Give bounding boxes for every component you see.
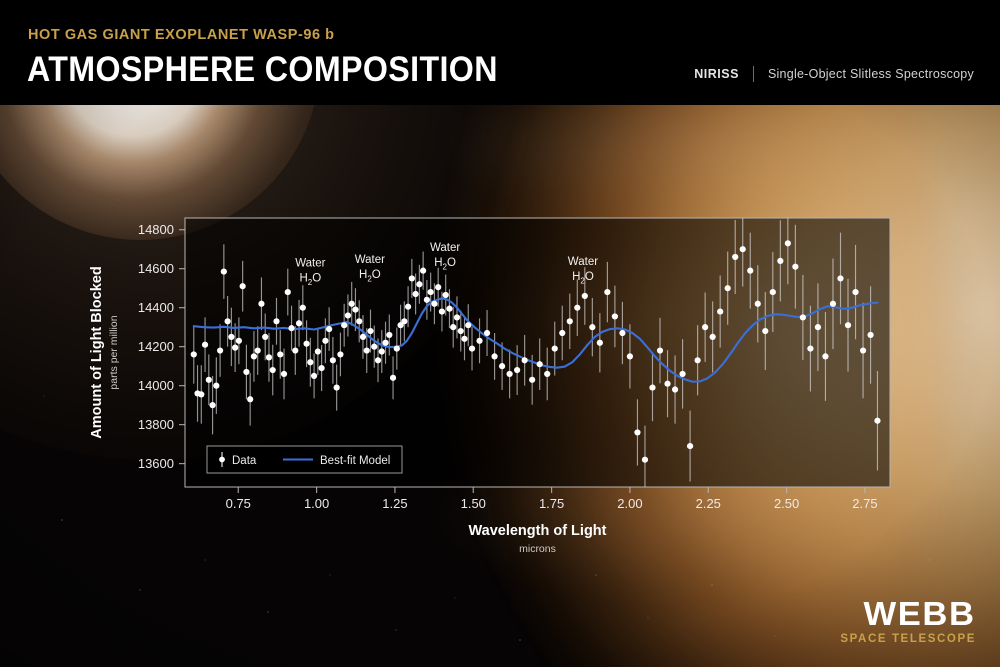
data-point bbox=[465, 322, 471, 328]
y-axis-tick-label: 14800 bbox=[138, 222, 174, 237]
data-point bbox=[461, 336, 467, 342]
data-point bbox=[270, 367, 276, 373]
data-point bbox=[710, 334, 716, 340]
data-point bbox=[345, 312, 351, 318]
data-point bbox=[679, 371, 685, 377]
data-point bbox=[217, 347, 223, 353]
data-point bbox=[191, 351, 197, 357]
data-point bbox=[687, 443, 693, 449]
x-axis-tick-label: 2.25 bbox=[696, 496, 721, 511]
data-point bbox=[657, 347, 663, 353]
data-point bbox=[672, 386, 678, 392]
data-point bbox=[777, 258, 783, 264]
data-point bbox=[642, 457, 648, 463]
data-point bbox=[725, 285, 731, 291]
x-axis-tick-label: 2.00 bbox=[617, 496, 642, 511]
data-point bbox=[634, 429, 640, 435]
data-point bbox=[334, 384, 340, 390]
x-axis-tick-label: 1.25 bbox=[382, 496, 407, 511]
logo-wordmark: WEBB bbox=[834, 597, 976, 630]
data-point bbox=[405, 304, 411, 310]
x-axis-tick-label: 2.50 bbox=[774, 496, 799, 511]
webb-logo: WEBB SPACE TELESCOPE bbox=[840, 597, 976, 645]
data-point bbox=[409, 275, 415, 281]
data-point bbox=[800, 314, 806, 320]
data-point bbox=[413, 291, 419, 297]
data-point bbox=[450, 324, 456, 330]
y-axis-tick-label: 14400 bbox=[138, 300, 174, 315]
data-point bbox=[431, 301, 437, 307]
data-point bbox=[255, 347, 261, 353]
data-point bbox=[867, 332, 873, 338]
header-eyebrow: HOT GAS GIANT EXOPLANET WASP-96 b bbox=[28, 27, 335, 43]
data-point bbox=[364, 347, 370, 353]
data-point bbox=[247, 396, 253, 402]
data-point bbox=[762, 328, 768, 334]
data-point bbox=[292, 347, 298, 353]
data-point bbox=[559, 330, 565, 336]
data-point bbox=[232, 345, 238, 351]
data-point bbox=[428, 289, 434, 295]
data-point bbox=[702, 324, 708, 330]
data-point bbox=[240, 283, 246, 289]
data-point bbox=[273, 318, 279, 324]
data-point bbox=[529, 377, 535, 383]
data-point bbox=[770, 289, 776, 295]
data-point bbox=[815, 324, 821, 330]
x-axis-tick-label: 1.50 bbox=[461, 496, 486, 511]
water-annotation-label: Water bbox=[568, 256, 598, 268]
data-point bbox=[458, 328, 464, 334]
data-point bbox=[198, 391, 204, 397]
data-point bbox=[330, 357, 336, 363]
data-point bbox=[213, 383, 219, 389]
data-point bbox=[326, 326, 332, 332]
data-point bbox=[352, 307, 358, 313]
data-point bbox=[612, 313, 618, 319]
data-point bbox=[341, 322, 347, 328]
data-point bbox=[420, 268, 426, 274]
y-axis-tick-label: 14200 bbox=[138, 339, 174, 354]
data-point bbox=[258, 301, 264, 307]
legend-label-data: Data bbox=[232, 455, 257, 467]
legend-label-model: Best-fit Model bbox=[320, 455, 390, 467]
data-point bbox=[285, 289, 291, 295]
data-point bbox=[717, 308, 723, 314]
data-point bbox=[416, 281, 422, 287]
data-point bbox=[567, 318, 573, 324]
data-point bbox=[860, 347, 866, 353]
x-axis-tick-label: 0.75 bbox=[226, 496, 251, 511]
data-point bbox=[537, 361, 543, 367]
data-point bbox=[852, 289, 858, 295]
data-point bbox=[375, 357, 381, 363]
data-point bbox=[469, 346, 475, 352]
data-point bbox=[807, 346, 813, 352]
water-annotation-label: Water bbox=[295, 258, 325, 270]
legend-data-marker bbox=[219, 457, 225, 463]
data-point bbox=[435, 284, 441, 290]
data-point bbox=[439, 308, 445, 314]
header-divider bbox=[753, 66, 754, 82]
data-point bbox=[303, 341, 309, 347]
y-axis-tick-label: 14000 bbox=[138, 378, 174, 393]
data-point bbox=[390, 375, 396, 381]
data-point bbox=[424, 297, 430, 303]
data-point bbox=[589, 324, 595, 330]
data-point bbox=[597, 340, 603, 346]
data-point bbox=[514, 367, 520, 373]
data-point bbox=[792, 264, 798, 270]
data-point bbox=[830, 301, 836, 307]
data-point bbox=[225, 318, 231, 324]
x-axis-tick-label: 1.75 bbox=[539, 496, 564, 511]
data-point bbox=[367, 328, 373, 334]
data-point bbox=[649, 384, 655, 390]
data-point bbox=[356, 318, 362, 324]
data-point bbox=[349, 301, 355, 307]
infographic-root: HOT GAS GIANT EXOPLANET WASP-96 b ATMOSP… bbox=[0, 0, 1000, 667]
header-bar: HOT GAS GIANT EXOPLANET WASP-96 b ATMOSP… bbox=[0, 0, 1000, 105]
instrument-name: NIRISS bbox=[694, 67, 739, 81]
data-point bbox=[202, 342, 208, 348]
data-point bbox=[446, 306, 452, 312]
data-point bbox=[337, 351, 343, 357]
data-point bbox=[604, 289, 610, 295]
data-point bbox=[221, 269, 227, 275]
data-point bbox=[740, 246, 746, 252]
data-point bbox=[484, 330, 490, 336]
data-point bbox=[307, 359, 313, 365]
data-point bbox=[785, 240, 791, 246]
data-point bbox=[627, 353, 633, 359]
x-axis-subtitle: microns bbox=[519, 543, 556, 555]
data-point bbox=[491, 353, 497, 359]
data-point bbox=[277, 351, 283, 357]
data-point bbox=[755, 301, 761, 307]
data-point bbox=[619, 330, 625, 336]
data-point bbox=[401, 318, 407, 324]
data-point bbox=[262, 334, 268, 340]
y-axis-subtitle: parts per million bbox=[108, 315, 120, 389]
observation-mode: Single-Object Slitless Spectroscopy bbox=[768, 67, 974, 81]
data-point bbox=[379, 348, 385, 354]
data-point bbox=[382, 340, 388, 346]
data-point bbox=[582, 293, 588, 299]
data-point bbox=[454, 314, 460, 320]
data-point bbox=[476, 338, 482, 344]
data-point bbox=[206, 377, 212, 383]
data-point bbox=[251, 353, 257, 359]
data-point bbox=[874, 418, 880, 424]
water-annotation-label: Water bbox=[355, 254, 385, 266]
data-point bbox=[371, 344, 377, 350]
data-point bbox=[281, 371, 287, 377]
y-axis-tick-label: 13800 bbox=[138, 417, 174, 432]
data-point bbox=[319, 365, 325, 371]
data-point bbox=[499, 363, 505, 369]
data-point bbox=[732, 254, 738, 260]
data-point bbox=[209, 402, 215, 408]
data-point bbox=[360, 334, 366, 340]
data-point bbox=[747, 268, 753, 274]
data-point bbox=[243, 369, 249, 375]
x-axis-title: Wavelength of Light bbox=[468, 523, 606, 539]
data-point bbox=[443, 292, 449, 298]
x-axis-tick-label: 2.75 bbox=[852, 496, 877, 511]
data-point bbox=[311, 373, 317, 379]
data-point bbox=[822, 353, 828, 359]
data-point bbox=[837, 275, 843, 281]
data-point bbox=[544, 371, 550, 377]
page-title: ATMOSPHERE COMPOSITION bbox=[27, 50, 498, 90]
data-point bbox=[394, 346, 400, 352]
water-annotation-label: Water bbox=[430, 242, 460, 254]
data-point bbox=[522, 357, 528, 363]
data-point bbox=[845, 322, 851, 328]
data-point bbox=[266, 354, 272, 360]
logo-tagline: SPACE TELESCOPE bbox=[840, 633, 976, 645]
y-axis-title: Amount of Light Blocked bbox=[89, 266, 105, 438]
data-point bbox=[552, 346, 558, 352]
data-point bbox=[288, 325, 294, 331]
data-point bbox=[296, 320, 302, 326]
data-point bbox=[507, 371, 513, 377]
data-point bbox=[386, 332, 392, 338]
data-point bbox=[664, 381, 670, 387]
header-meta: NIRISS Single-Object Slitless Spectrosco… bbox=[694, 66, 974, 82]
data-point bbox=[236, 338, 242, 344]
data-point bbox=[315, 348, 321, 354]
data-point bbox=[300, 305, 306, 311]
y-axis-tick-label: 13600 bbox=[138, 456, 174, 471]
data-point bbox=[695, 357, 701, 363]
data-point bbox=[322, 338, 328, 344]
y-axis-tick-label: 14600 bbox=[138, 261, 174, 276]
data-point bbox=[574, 305, 580, 311]
data-point bbox=[228, 334, 234, 340]
x-axis-tick-label: 1.00 bbox=[304, 496, 329, 511]
